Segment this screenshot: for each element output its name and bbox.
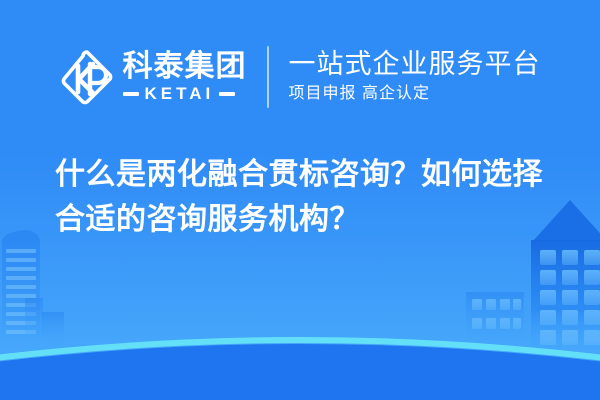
title-block: 什么是两化融合贯标咨询？如何选择合适的咨询服务机构？ [55,152,555,242]
header-divider [267,46,269,108]
logo-dash-left-icon [123,92,139,96]
building-right-low [466,292,524,352]
banner-header: 科泰集团 KETAI 一站式企业服务平台 项目申报 高企认定 [0,36,600,118]
promo-banner: 科泰集团 KETAI 一站式企业服务平台 项目申报 高企认定 什么是两化融合贯标… [0,0,600,400]
logo-dash-right-icon [219,92,235,96]
brand-logo[interactable]: 科泰集团 KETAI [60,41,247,113]
building-left-small [25,298,64,350]
logo-wordmark: 科泰集团 KETAI [123,48,247,106]
bottom-wave-divider [0,340,600,400]
header-slogan: 一站式企业服务平台 项目申报 高企认定 [289,45,541,109]
slogan-primary: 一站式企业服务平台 [289,49,541,80]
slogan-secondary: 项目申报 高企认定 [289,83,541,105]
logo-english-row: KETAI [123,85,247,103]
page-title: 什么是两化融合贯标咨询？如何选择合适的咨询服务机构？ [55,152,555,242]
logo-chinese-name: 科泰集团 [123,51,247,83]
logo-english-name: KETAI [145,85,215,103]
ketai-kp-diamond-logo-icon [60,48,114,106]
building-left-tower [2,230,40,350]
